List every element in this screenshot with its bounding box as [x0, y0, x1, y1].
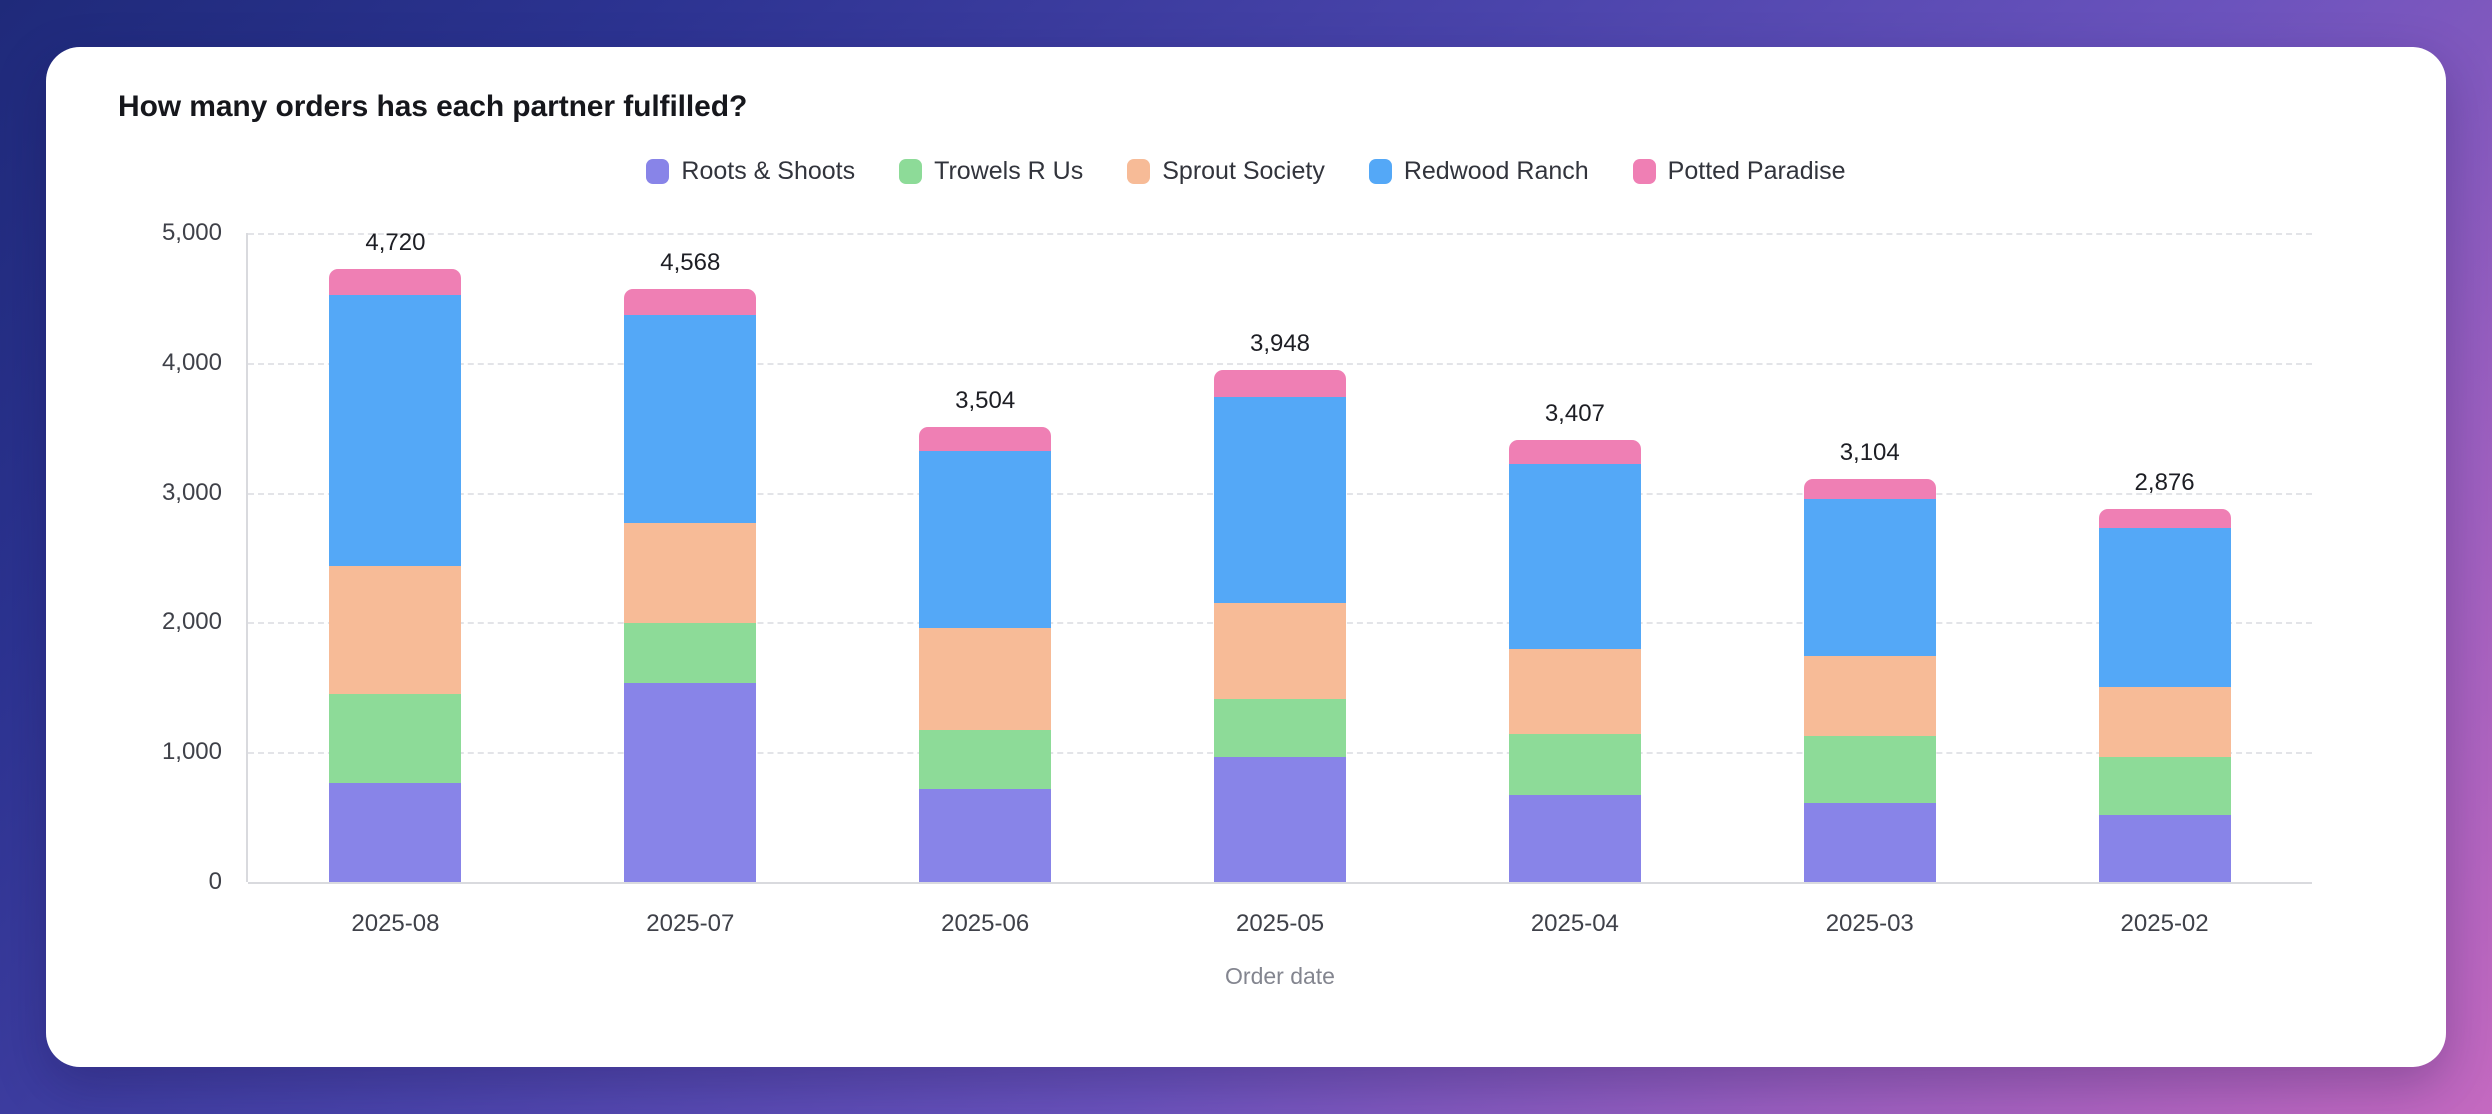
bar-segment[interactable]	[1214, 699, 1346, 757]
bar-total-label: 3,504	[955, 387, 1015, 415]
x-axis-title: Order date	[248, 963, 2312, 990]
legend-item[interactable]: Roots & Shoots	[646, 157, 855, 186]
page-title: How many orders has each partner fulfill…	[118, 89, 2398, 125]
x-axis-tick-label: 2025-05	[1133, 888, 1428, 938]
bar-group[interactable]: 2,876	[2017, 233, 2312, 882]
y-axis-tick-label: 5,000	[162, 219, 222, 247]
bar-segment[interactable]	[329, 694, 461, 783]
legend-item-label: Redwood Ranch	[1404, 157, 1589, 186]
bar-segment[interactable]	[624, 623, 756, 683]
bar-segment[interactable]	[1804, 479, 1936, 499]
bar-total-label: 3,407	[1545, 400, 1605, 428]
bar-stack[interactable]	[2099, 509, 2231, 882]
plot-area: 4,7204,5683,5043,9483,4073,1042,876	[248, 233, 2312, 882]
bar-segment[interactable]	[1804, 736, 1936, 803]
bar-segment[interactable]	[919, 789, 1051, 882]
bar-total-label: 4,568	[660, 249, 720, 277]
bar-segment[interactable]	[1214, 757, 1346, 882]
legend-item-label: Potted Paradise	[1668, 157, 1846, 186]
legend-swatch-icon	[1633, 159, 1656, 184]
bar-segment[interactable]	[2099, 687, 2231, 757]
x-axis-tick-label: 2025-08	[248, 888, 543, 938]
x-axis-tick-label: 2025-06	[838, 888, 1133, 938]
bar-segment[interactable]	[1214, 603, 1346, 699]
bar-segment[interactable]	[329, 295, 461, 566]
bar-segment[interactable]	[329, 269, 461, 295]
bar-segment[interactable]	[919, 451, 1051, 628]
chart-legend: Roots & ShootsTrowels R UsSprout Society…	[94, 153, 2398, 189]
bar-segment[interactable]	[1509, 795, 1641, 882]
legend-swatch-icon	[646, 159, 669, 184]
bar-segment[interactable]	[2099, 509, 2231, 529]
bar-total-label: 4,720	[365, 229, 425, 257]
y-axis-tick-label: 3,000	[162, 479, 222, 507]
bar-segment[interactable]	[919, 427, 1051, 451]
legend-swatch-icon	[1369, 159, 1392, 184]
bar-stack[interactable]	[1214, 370, 1346, 882]
y-axis: 01,0002,0003,0004,0005,000	[94, 233, 246, 882]
legend-item-label: Sprout Society	[1162, 157, 1325, 186]
bar-segment[interactable]	[919, 628, 1051, 730]
legend-item-label: Trowels R Us	[934, 157, 1083, 186]
bar-segment[interactable]	[1509, 649, 1641, 734]
y-axis-tick-label: 4,000	[162, 349, 222, 377]
bar-segment[interactable]	[624, 683, 756, 882]
bar-stack[interactable]	[624, 289, 756, 882]
x-axis-tick-label: 2025-03	[1722, 888, 2017, 938]
bar-segment[interactable]	[624, 315, 756, 523]
bar-segment[interactable]	[919, 730, 1051, 788]
bar-stack[interactable]	[919, 427, 1051, 882]
bar-stack[interactable]	[329, 269, 461, 882]
legend-item[interactable]: Potted Paradise	[1633, 157, 1846, 186]
legend-swatch-icon	[1127, 159, 1150, 184]
bar-segment[interactable]	[1509, 440, 1641, 464]
bar-group[interactable]: 3,504	[838, 233, 1133, 882]
bar-segment[interactable]	[329, 783, 461, 882]
bar-total-label: 2,876	[2135, 469, 2195, 497]
legend-item[interactable]: Trowels R Us	[899, 157, 1083, 186]
x-axis-tick-label: 2025-04	[1427, 888, 1722, 938]
plot-region: 01,0002,0003,0004,0005,000 4,7204,5683,5…	[94, 233, 2398, 1037]
bar-segment[interactable]	[2099, 815, 2231, 882]
bar-stack[interactable]	[1509, 440, 1641, 882]
x-axis-tick-label: 2025-07	[543, 888, 838, 938]
legend-item[interactable]: Redwood Ranch	[1369, 157, 1589, 186]
bar-stack[interactable]	[1804, 479, 1936, 882]
y-axis-tick-label: 2,000	[162, 608, 222, 636]
bar-segment[interactable]	[624, 523, 756, 623]
legend-swatch-icon	[899, 159, 922, 184]
bar-group[interactable]: 4,568	[543, 233, 838, 882]
bar-segment[interactable]	[1509, 734, 1641, 795]
bar-segment[interactable]	[2099, 528, 2231, 686]
bar-group[interactable]: 3,407	[1427, 233, 1722, 882]
bar-segment[interactable]	[624, 289, 756, 315]
chart-card: How many orders has each partner fulfill…	[46, 47, 2446, 1067]
bar-segment[interactable]	[1804, 499, 1936, 656]
x-axis: 2025-082025-072025-062025-052025-042025-…	[248, 888, 2312, 938]
bar-segment[interactable]	[329, 566, 461, 694]
y-axis-tick-label: 1,000	[162, 738, 222, 766]
bar-segment[interactable]	[1509, 464, 1641, 649]
x-axis-tick-label: 2025-02	[2017, 888, 2312, 938]
bar-group[interactable]: 3,104	[1722, 233, 2017, 882]
bar-segment[interactable]	[1214, 397, 1346, 603]
legend-item[interactable]: Sprout Society	[1127, 157, 1325, 186]
bar-total-label: 3,104	[1840, 439, 1900, 467]
bar-segment[interactable]	[2099, 757, 2231, 815]
bar-segment[interactable]	[1214, 370, 1346, 397]
axis-baseline	[248, 882, 2312, 884]
bar-total-label: 3,948	[1250, 330, 1310, 358]
y-axis-tick-label: 0	[209, 868, 222, 896]
bar-segment[interactable]	[1804, 803, 1936, 882]
legend-item-label: Roots & Shoots	[681, 157, 855, 186]
bar-segment[interactable]	[1804, 656, 1936, 736]
bar-group[interactable]: 3,948	[1133, 233, 1428, 882]
bar-group[interactable]: 4,720	[248, 233, 543, 882]
bars-layer: 4,7204,5683,5043,9483,4073,1042,876	[248, 233, 2312, 882]
